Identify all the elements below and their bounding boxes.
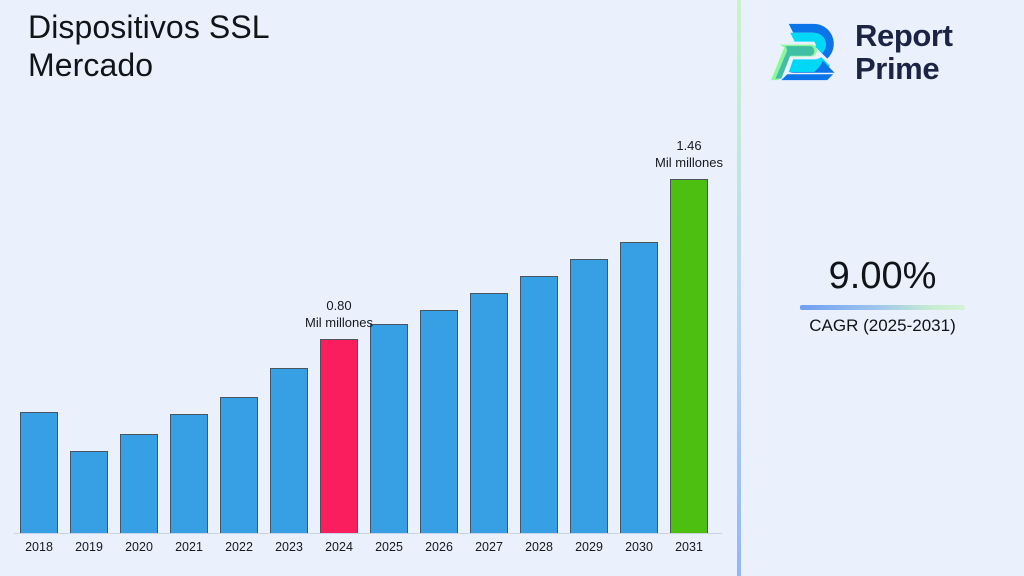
x-tick-label-2022: 2022	[214, 540, 264, 554]
bar-annotation-value: 0.80	[264, 297, 414, 314]
bar-2023	[270, 368, 308, 533]
bar-annotation-unit: Mil millones	[264, 314, 414, 331]
chart-panel: Dispositivos SSL Mercado 201820192020202…	[0, 0, 738, 576]
bar-2018	[20, 412, 58, 533]
x-tick-label-2021: 2021	[164, 540, 214, 554]
bar-2029	[570, 259, 608, 533]
brand-logo: Report Prime	[771, 12, 1011, 92]
x-axis-line	[14, 533, 722, 534]
x-tick-label-2029: 2029	[564, 540, 614, 554]
x-tick-label-2027: 2027	[464, 540, 514, 554]
bar-2031	[670, 179, 708, 533]
bar-chart-plot-area: 2018201920202021202220232024202520262027…	[0, 0, 738, 576]
x-tick-label-2018: 2018	[14, 540, 64, 554]
brand-wordmark: Report Prime	[855, 19, 953, 85]
bar-2026	[420, 310, 458, 533]
screenshot-root: Dispositivos SSL Mercado 201820192020202…	[0, 0, 1024, 576]
x-tick-label-2023: 2023	[264, 540, 314, 554]
bar-2027	[470, 293, 508, 533]
x-tick-label-2019: 2019	[64, 540, 114, 554]
x-tick-label-2030: 2030	[614, 540, 664, 554]
cagr-divider-rule	[800, 305, 965, 310]
x-tick-label-2031: 2031	[664, 540, 714, 554]
cagr-block: 9.00% CAGR (2025-2031)	[741, 253, 1024, 337]
cagr-value: 9.00%	[741, 253, 1024, 299]
x-tick-label-2025: 2025	[364, 540, 414, 554]
bar-2020	[120, 434, 158, 533]
x-tick-label-2020: 2020	[114, 540, 164, 554]
report-prime-r-logo-icon	[771, 15, 845, 89]
bar-annotation-2024: 0.80Mil millones	[264, 297, 414, 331]
bar-2030	[620, 242, 658, 533]
x-tick-label-2024: 2024	[314, 540, 364, 554]
bar-2024	[320, 339, 358, 533]
x-tick-label-2028: 2028	[514, 540, 564, 554]
side-panel: Report Prime 9.00% CAGR (2025-2031)	[741, 0, 1024, 576]
x-tick-label-2026: 2026	[414, 540, 464, 554]
bar-2025	[370, 324, 408, 533]
cagr-caption: CAGR (2025-2031)	[741, 315, 1024, 337]
bar-2022	[220, 397, 258, 533]
bar-2021	[170, 414, 208, 533]
bar-2028	[520, 276, 558, 533]
bar-2019	[70, 451, 108, 533]
